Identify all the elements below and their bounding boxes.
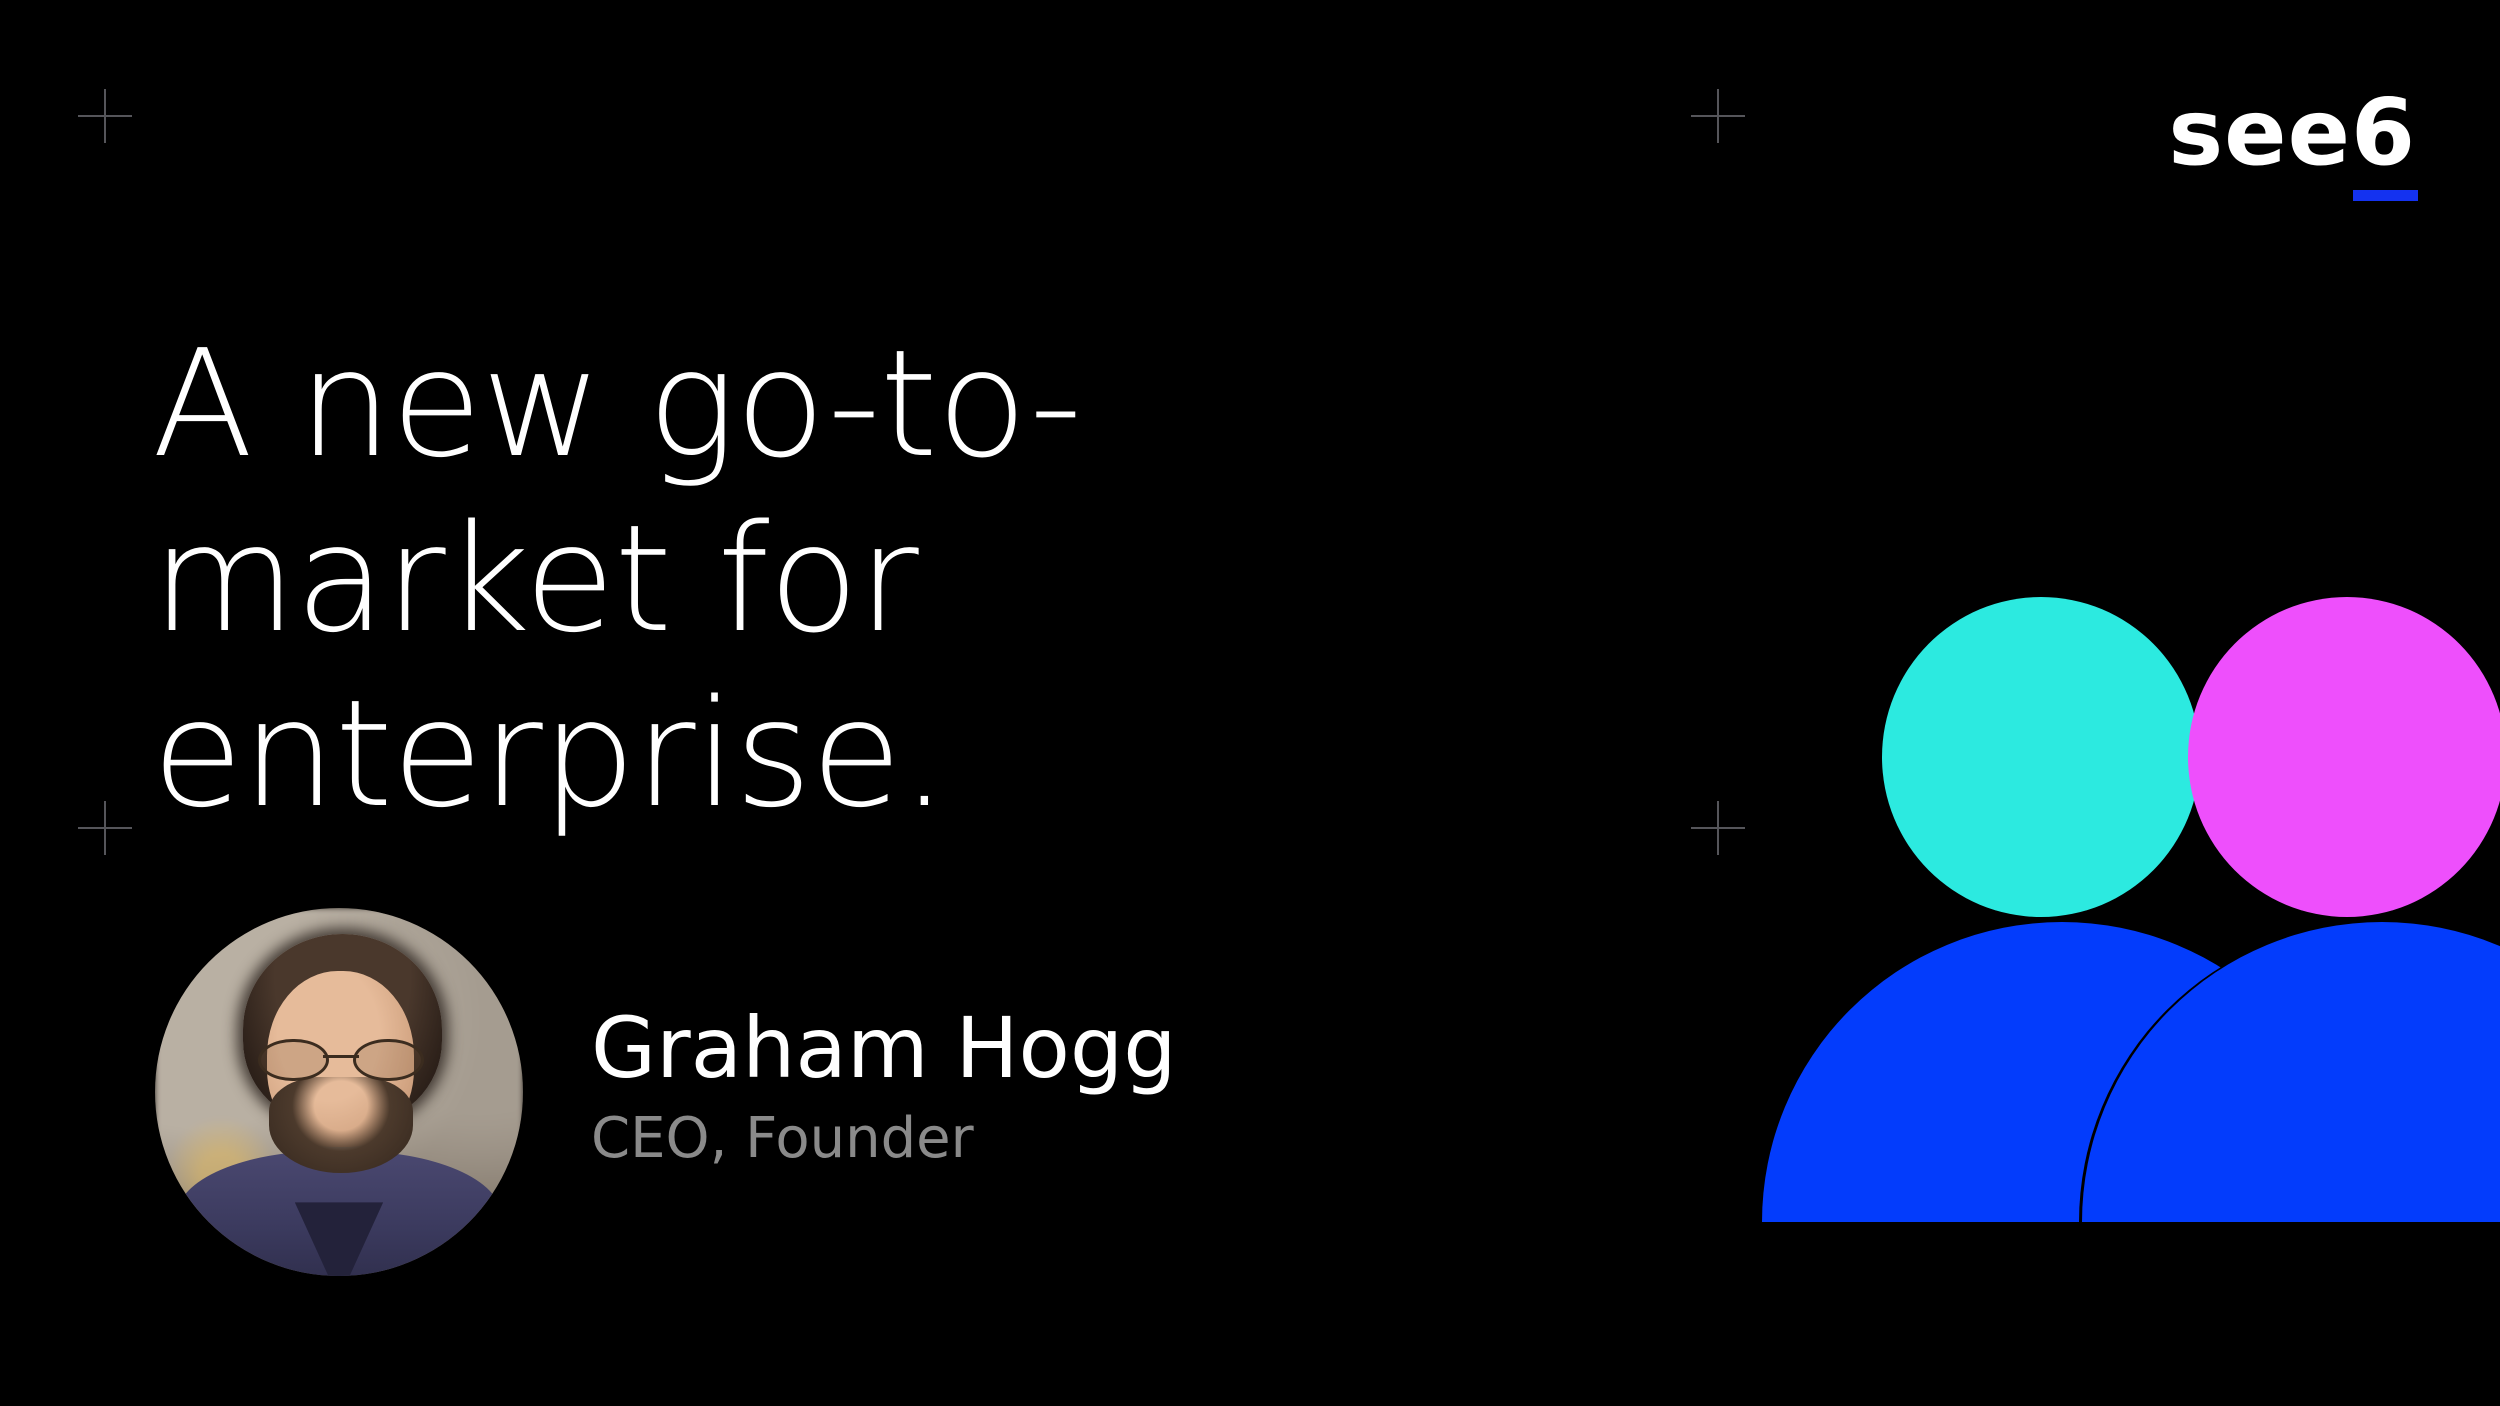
speaker-text: Graham Hogg CEO, Founder — [591, 1004, 1177, 1180]
brand-logo-underline — [2353, 190, 2418, 201]
brand-logo-mark-text: 6 — [2351, 79, 2416, 186]
crosshair-icon-bottom-right — [1691, 801, 1745, 855]
brand-logo[interactable]: see 6 — [2168, 87, 2416, 179]
avatar — [155, 908, 523, 1276]
avatar-photo-beard — [269, 1077, 413, 1173]
group-avatar-graphic — [1762, 590, 2500, 1230]
presentation-slide: see 6 A new go-to-market for enterprise.… — [0, 0, 2500, 1406]
crosshair-icon-top-right — [1691, 89, 1745, 143]
speaker-name: Graham Hogg — [591, 1004, 1177, 1093]
group-avatar-head-right — [2188, 597, 2500, 917]
crosshair-icon-top-left — [78, 89, 132, 143]
crosshair-icon-bottom-left — [78, 801, 132, 855]
brand-logo-mark: 6 — [2351, 87, 2416, 179]
page-title: A new go-to-market for enterprise. — [152, 317, 1272, 842]
speaker-role: CEO, Founder — [591, 1105, 1177, 1172]
brand-logo-word: see — [2168, 87, 2351, 179]
avatar-photo-glasses — [258, 1039, 424, 1076]
speaker-block: Graham Hogg CEO, Founder — [155, 908, 1177, 1276]
group-avatar-head-left — [1882, 597, 2200, 917]
